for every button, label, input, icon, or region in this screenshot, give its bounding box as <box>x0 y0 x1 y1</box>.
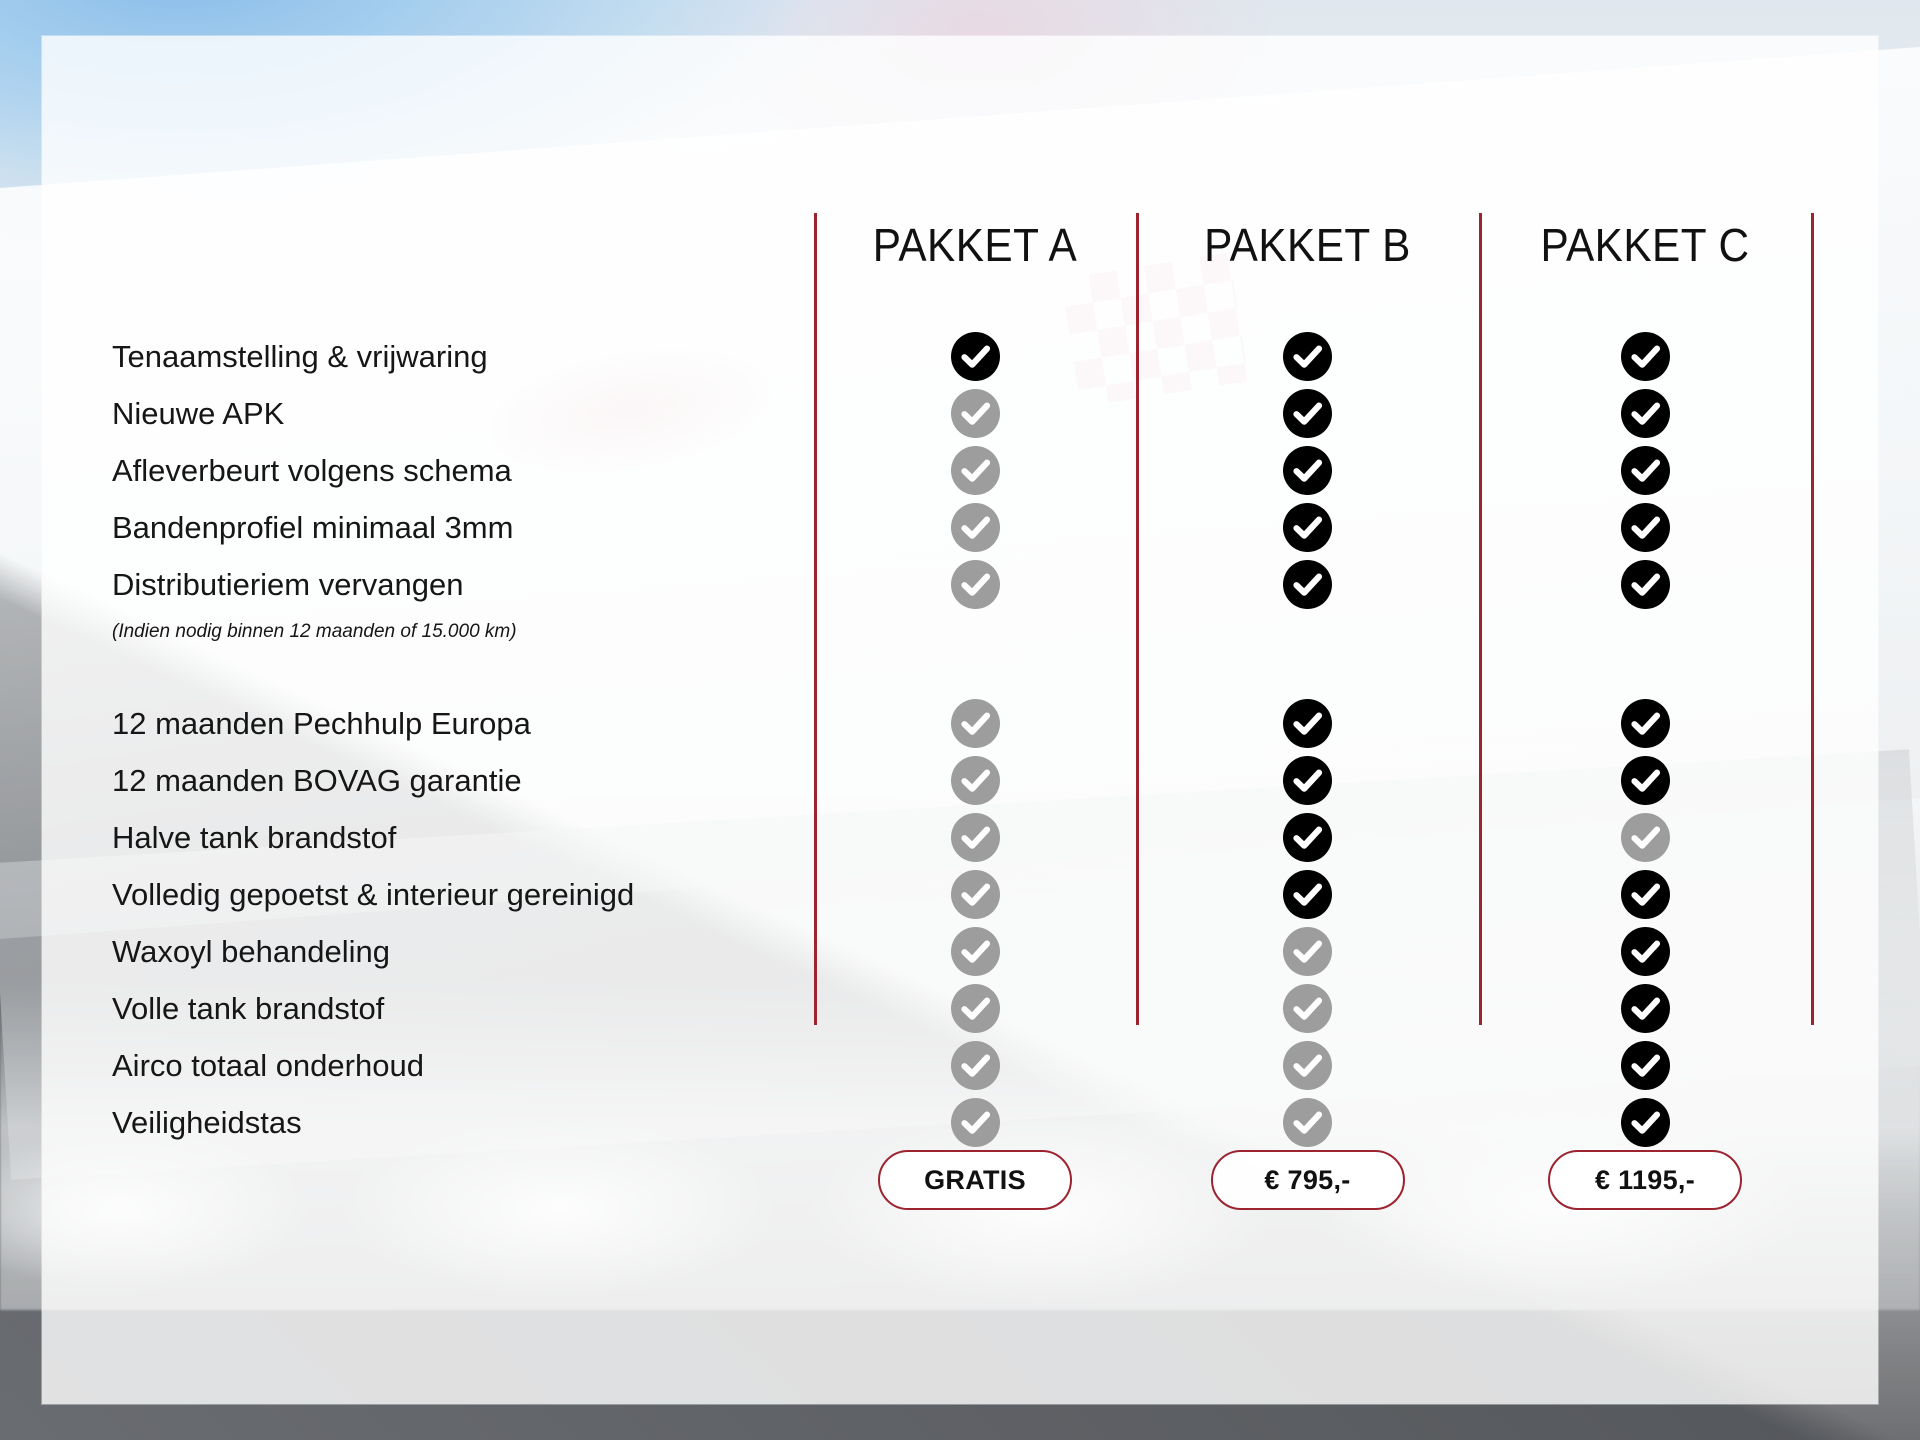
check-circle-icon-included <box>1621 389 1670 438</box>
group-spacer <box>112 651 752 695</box>
check-cell-pakket-c <box>1479 328 1811 385</box>
check-circle-icon-included <box>1621 503 1670 552</box>
check-circle-icon-excluded <box>951 1041 1000 1090</box>
pricing-card: PAKKET A PAKKET B PAKKET C Tenaamstellin… <box>42 36 1878 1404</box>
check-circle-icon-excluded <box>1621 813 1670 862</box>
check-cell-pakket-c <box>1479 809 1811 866</box>
check-circle-icon-included <box>1621 560 1670 609</box>
check-cell-pakket-b <box>1136 752 1479 809</box>
check-cell-pakket-c <box>1479 980 1811 1037</box>
check-circle-icon-included <box>1621 756 1670 805</box>
feature-label: Halve tank brandstof <box>112 809 752 866</box>
price-row: GRATIS € 795,- € 1195,- <box>814 1150 1811 1210</box>
check-cell-pakket-c <box>1479 499 1811 556</box>
check-circle-icon-included <box>1283 503 1332 552</box>
check-cell-pakket-a <box>814 866 1136 923</box>
check-circle-icon-included <box>951 332 1000 381</box>
feature-footnote: (Indien nodig binnen 12 maanden of 15.00… <box>112 613 752 651</box>
check-cell-pakket-b <box>1136 442 1479 499</box>
check-cell-pakket-b <box>1136 980 1479 1037</box>
check-circle-icon-included <box>1621 870 1670 919</box>
check-circle-icon-included <box>1283 389 1332 438</box>
check-circle-icon-included <box>1621 984 1670 1033</box>
check-circle-icon-excluded <box>951 984 1000 1033</box>
check-cell-pakket-c <box>1479 923 1811 980</box>
price-slot-pakket-a: GRATIS <box>814 1150 1136 1210</box>
price-slot-pakket-c: € 1195,- <box>1479 1150 1811 1210</box>
feature-label: Volledig gepoetst & interieur gereinigd <box>112 866 752 923</box>
check-row <box>814 809 1811 866</box>
check-cell-pakket-c <box>1479 442 1811 499</box>
price-button-pakket-b[interactable]: € 795,- <box>1211 1150 1405 1210</box>
check-cell-pakket-b <box>1136 1094 1479 1151</box>
check-row <box>814 499 1811 556</box>
check-row <box>814 866 1811 923</box>
check-row <box>814 556 1811 613</box>
check-circle-icon-excluded <box>951 927 1000 976</box>
check-circle-icon-included <box>1621 699 1670 748</box>
check-cell-pakket-a <box>814 923 1136 980</box>
check-circle-icon-included <box>1283 870 1332 919</box>
check-grid <box>814 328 1811 1151</box>
check-circle-icon-excluded <box>951 560 1000 609</box>
check-row <box>814 1094 1811 1151</box>
check-row <box>814 385 1811 442</box>
feature-label: Nieuwe APK <box>112 385 752 442</box>
check-cell-pakket-a <box>814 442 1136 499</box>
check-cell-pakket-c <box>1479 1037 1811 1094</box>
column-header-pakket-c: PAKKET C <box>1492 214 1797 276</box>
check-circle-icon-included <box>1621 1098 1670 1147</box>
price-button-pakket-c[interactable]: € 1195,- <box>1548 1150 1742 1210</box>
group-spacer <box>814 651 1811 695</box>
check-circle-icon-excluded <box>1283 927 1332 976</box>
feature-label: Tenaamstelling & vrijwaring <box>112 328 752 385</box>
check-circle-icon-excluded <box>1283 1041 1332 1090</box>
feature-label-column: Tenaamstelling & vrijwaring Nieuwe APK A… <box>112 328 752 1151</box>
price-button-pakket-a[interactable]: GRATIS <box>878 1150 1072 1210</box>
check-circle-icon-excluded <box>951 503 1000 552</box>
check-cell-pakket-b <box>1136 385 1479 442</box>
check-row <box>814 1037 1811 1094</box>
check-cell-pakket-a <box>814 695 1136 752</box>
check-circle-icon-excluded <box>951 446 1000 495</box>
check-cell-pakket-a <box>814 328 1136 385</box>
feature-label: 12 maanden Pechhulp Europa <box>112 695 752 752</box>
column-header-pakket-a: PAKKET A <box>827 214 1123 276</box>
feature-label: 12 maanden BOVAG garantie <box>112 752 752 809</box>
check-circle-icon-included <box>1283 332 1332 381</box>
feature-label: Bandenprofiel minimaal 3mm <box>112 499 752 556</box>
feature-label: Veiligheidstas <box>112 1094 752 1151</box>
check-cell-pakket-a <box>814 385 1136 442</box>
feature-label: Airco totaal onderhoud <box>112 1037 752 1094</box>
check-circle-icon-included <box>1283 560 1332 609</box>
check-cell-pakket-b <box>1136 809 1479 866</box>
feature-label: Volle tank brandstof <box>112 980 752 1037</box>
check-cell-pakket-b <box>1136 923 1479 980</box>
check-cell-pakket-c <box>1479 385 1811 442</box>
feature-label: Distributieriem vervangen <box>112 556 752 613</box>
check-cell-pakket-a <box>814 752 1136 809</box>
check-cell-pakket-c <box>1479 752 1811 809</box>
check-circle-icon-excluded <box>951 756 1000 805</box>
check-cell-pakket-a <box>814 1094 1136 1151</box>
check-cell-pakket-c <box>1479 556 1811 613</box>
footnote-spacer <box>814 613 1811 651</box>
check-row <box>814 442 1811 499</box>
check-cell-pakket-a <box>814 809 1136 866</box>
check-cell-pakket-a <box>814 556 1136 613</box>
check-cell-pakket-c <box>1479 1094 1811 1151</box>
check-row <box>814 328 1811 385</box>
check-circle-icon-excluded <box>951 699 1000 748</box>
check-circle-icon-included <box>1283 699 1332 748</box>
check-circle-icon-included <box>1621 1041 1670 1090</box>
check-circle-icon-excluded <box>951 870 1000 919</box>
check-cell-pakket-a <box>814 499 1136 556</box>
check-cell-pakket-a <box>814 1037 1136 1094</box>
package-comparison-table: PAKKET A PAKKET B PAKKET C Tenaamstellin… <box>42 36 1878 1404</box>
check-cell-pakket-b <box>1136 1037 1479 1094</box>
check-cell-pakket-a <box>814 980 1136 1037</box>
feature-label: Waxoyl behandeling <box>112 923 752 980</box>
check-circle-icon-included <box>1283 756 1332 805</box>
check-circle-icon-included <box>1283 813 1332 862</box>
check-circle-icon-included <box>1621 927 1670 976</box>
check-row <box>814 752 1811 809</box>
check-circle-icon-excluded <box>951 1098 1000 1147</box>
check-circle-icon-excluded <box>951 389 1000 438</box>
check-circle-icon-excluded <box>1283 1098 1332 1147</box>
check-cell-pakket-b <box>1136 556 1479 613</box>
column-header-pakket-b: PAKKET B <box>1150 214 1466 276</box>
check-circle-icon-included <box>1621 332 1670 381</box>
check-row <box>814 923 1811 980</box>
check-cell-pakket-b <box>1136 695 1479 752</box>
check-cell-pakket-b <box>1136 328 1479 385</box>
column-divider <box>1811 213 1814 1025</box>
feature-label: Afleverbeurt volgens schema <box>112 442 752 499</box>
check-cell-pakket-c <box>1479 866 1811 923</box>
check-row <box>814 980 1811 1037</box>
check-cell-pakket-b <box>1136 499 1479 556</box>
check-cell-pakket-c <box>1479 695 1811 752</box>
check-circle-icon-excluded <box>951 813 1000 862</box>
check-circle-icon-included <box>1283 446 1332 495</box>
check-row <box>814 695 1811 752</box>
check-circle-icon-excluded <box>1283 984 1332 1033</box>
price-slot-pakket-b: € 795,- <box>1136 1150 1479 1210</box>
check-circle-icon-included <box>1621 446 1670 495</box>
check-cell-pakket-b <box>1136 866 1479 923</box>
